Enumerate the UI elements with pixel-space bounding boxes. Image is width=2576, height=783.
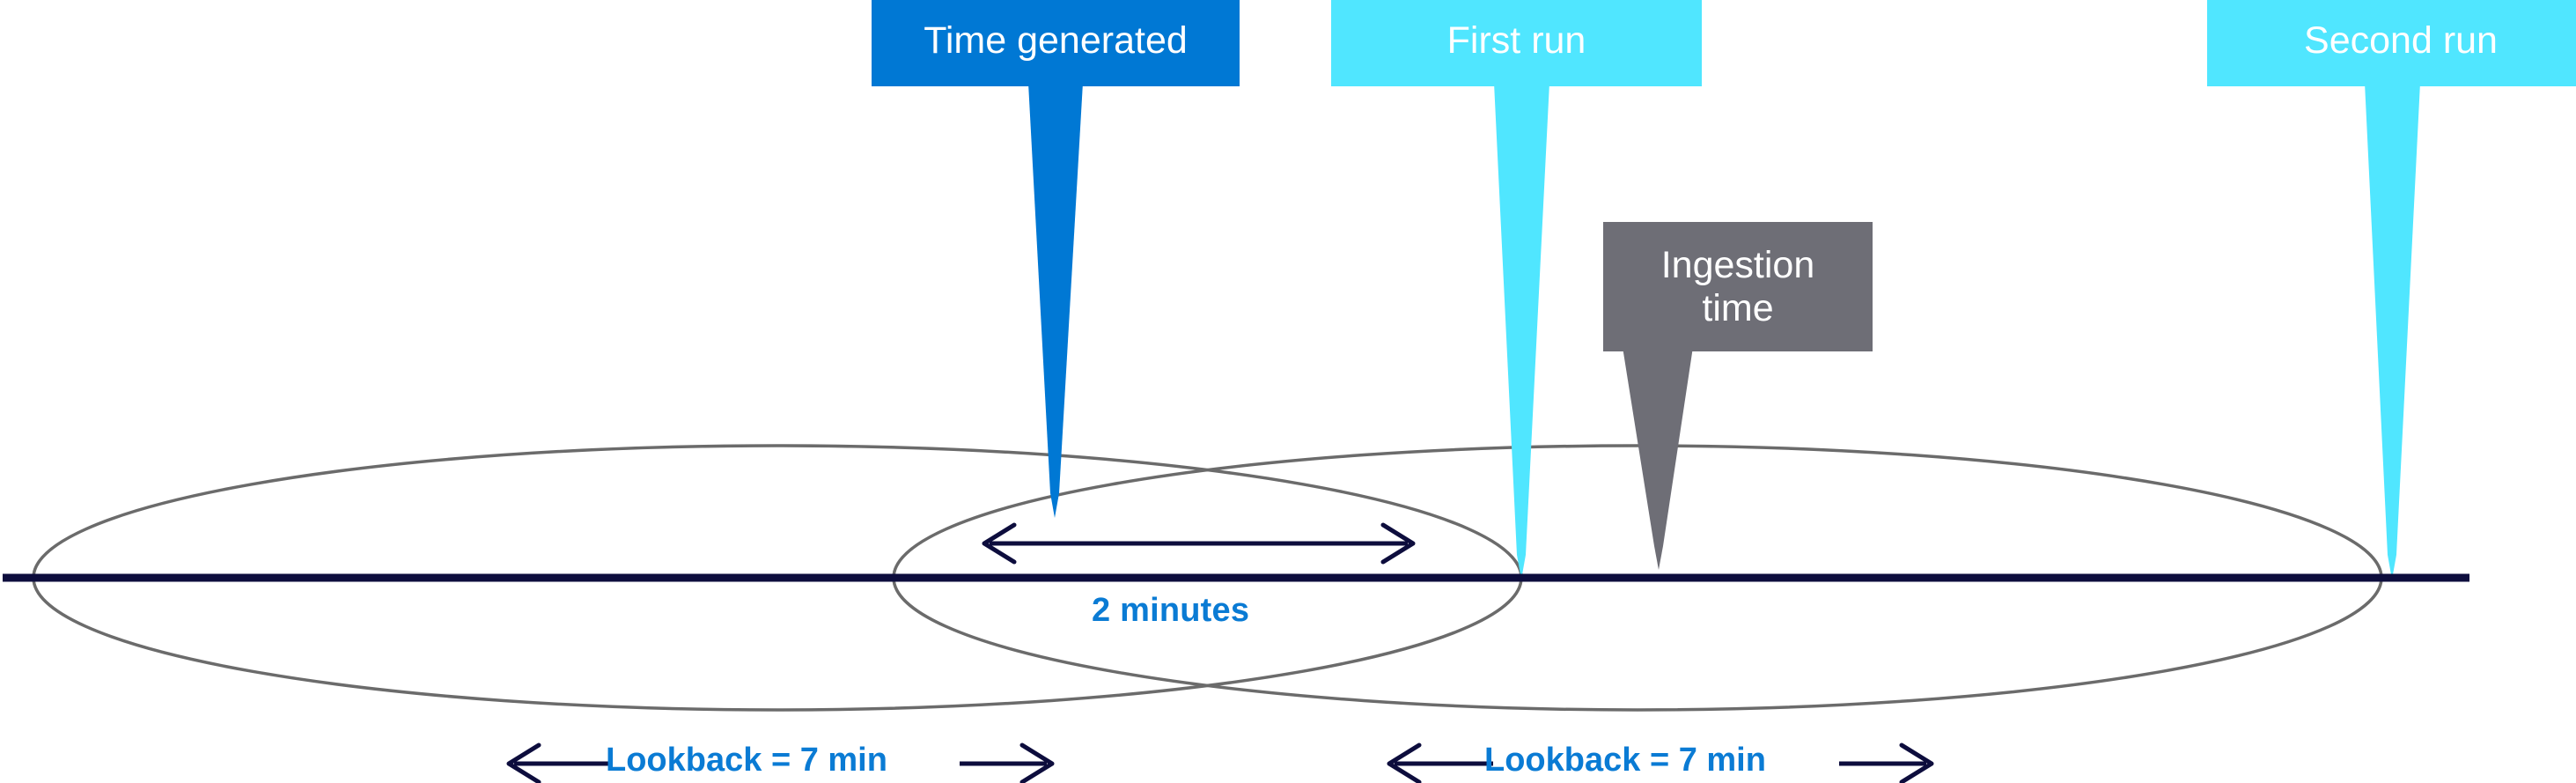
pin-label-second-run[interactable]: Second run: [2207, 0, 2576, 86]
label-two-minutes: 2 minutes: [1092, 592, 1249, 630]
diagram-vector-layer: [0, 0, 2576, 783]
label-lookback-right: Lookback = 7 min: [1484, 742, 1766, 779]
diagram-canvas: Time generated First run Ingestion time …: [0, 0, 2576, 783]
pin-shaft-ingestion-time: [1623, 347, 1693, 570]
pin-shaft-first-run: [1494, 83, 1549, 580]
pin-label-time-generated[interactable]: Time generated: [872, 0, 1240, 86]
pin-label-ingestion-time[interactable]: Ingestion time: [1603, 222, 1873, 351]
two-minutes-arrow: [984, 525, 1413, 562]
label-lookback-left: Lookback = 7 min: [606, 742, 887, 779]
pin-label-first-run[interactable]: First run: [1331, 0, 1702, 86]
pin-shaft-second-run: [2365, 83, 2420, 580]
